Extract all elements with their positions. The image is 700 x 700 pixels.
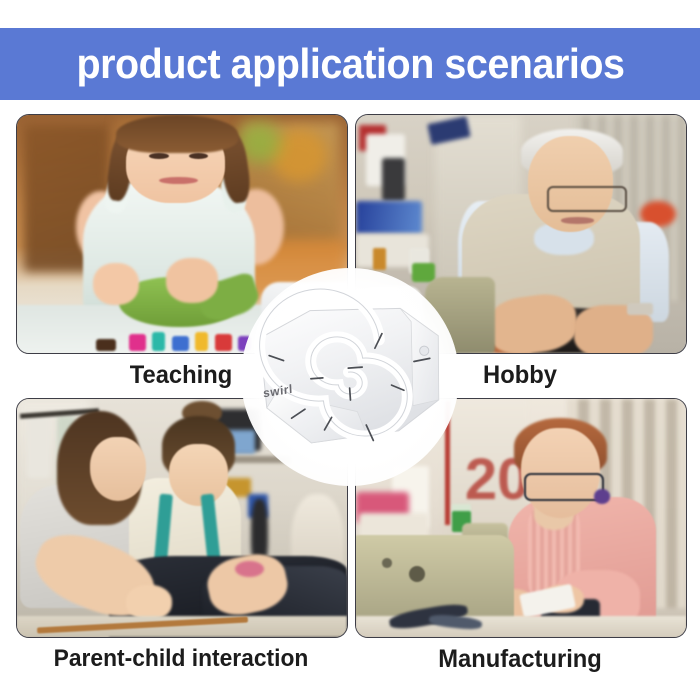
header-banner: product application scenarios	[0, 28, 700, 100]
scenario-card-teaching[interactable]: Teaching	[16, 114, 346, 388]
scenario-photo-parent-child-interaction	[16, 398, 348, 638]
scenario-card-parent-child-interaction[interactable]: Parent-child interaction	[16, 398, 346, 671]
scenario-photo-hobby	[355, 114, 687, 354]
scenario-caption-parent-child-interaction: Parent-child interaction	[24, 647, 338, 671]
scenario-caption-teaching: Teaching	[24, 363, 338, 388]
scenario-caption-manufacturing: Manufacturing	[363, 647, 677, 672]
scenario-photo-manufacturing: 20	[355, 398, 687, 638]
scenario-photo-teaching	[16, 114, 348, 354]
scenario-grid: Teaching	[0, 110, 700, 690]
scenario-card-manufacturing[interactable]: 20 Manufactur	[355, 398, 685, 672]
scenario-card-hobby[interactable]: Hobby	[355, 114, 685, 388]
scenario-caption-hobby: Hobby	[363, 363, 677, 388]
page-title: product application scenarios	[76, 43, 624, 85]
